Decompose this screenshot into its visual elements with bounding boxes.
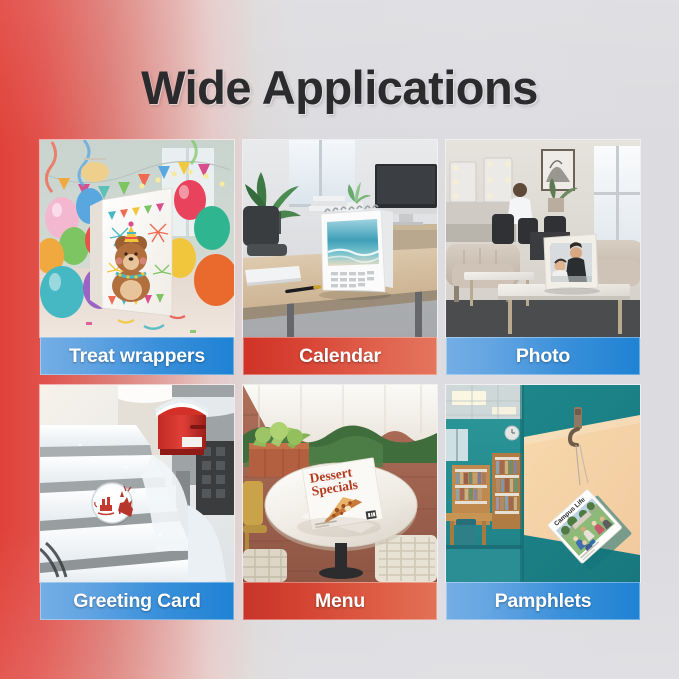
caption-photo: Photo [446, 337, 640, 375]
salon-lounge-illustration [446, 140, 640, 337]
thumbnail-cafe-patio: Dessert Specials [243, 385, 437, 582]
grid-cell-pamphlets[interactable]: Campus Life Pamphlets [446, 385, 640, 620]
thumbnail-library-wall: Campus Life [446, 385, 640, 582]
page-title: Wide Applications [0, 60, 679, 115]
grid-cell-calendar[interactable]: Calendar [243, 140, 437, 375]
grid-cell-menu[interactable]: Dessert Specials [243, 385, 437, 620]
cafe-patio-illustration: Dessert Specials [243, 385, 437, 582]
grid-cell-treat-wrappers[interactable]: Treat wrappers [40, 140, 234, 375]
office-desk-illustration [243, 140, 437, 337]
caption-greeting-card: Greeting Card [40, 582, 234, 620]
grid-cell-photo[interactable]: Photo [446, 140, 640, 375]
thumbnail-party-room [40, 140, 234, 337]
caption-treat-wrappers: Treat wrappers [40, 337, 234, 375]
thumbnail-snowy-steps [40, 385, 234, 582]
grid-cell-greeting-card[interactable]: Greeting Card [40, 385, 234, 620]
applications-grid: Treat wrappers [40, 140, 640, 620]
thumbnail-office-desk [243, 140, 437, 337]
snowy-steps-illustration [40, 385, 234, 582]
party-room-illustration [40, 140, 234, 337]
infographic-page: Wide Applications [0, 0, 679, 679]
thumbnail-salon-lounge [446, 140, 640, 337]
caption-pamphlets: Pamphlets [446, 582, 640, 620]
caption-menu: Menu [243, 582, 437, 620]
caption-calendar: Calendar [243, 337, 437, 375]
library-wall-illustration: Campus Life [446, 385, 640, 582]
